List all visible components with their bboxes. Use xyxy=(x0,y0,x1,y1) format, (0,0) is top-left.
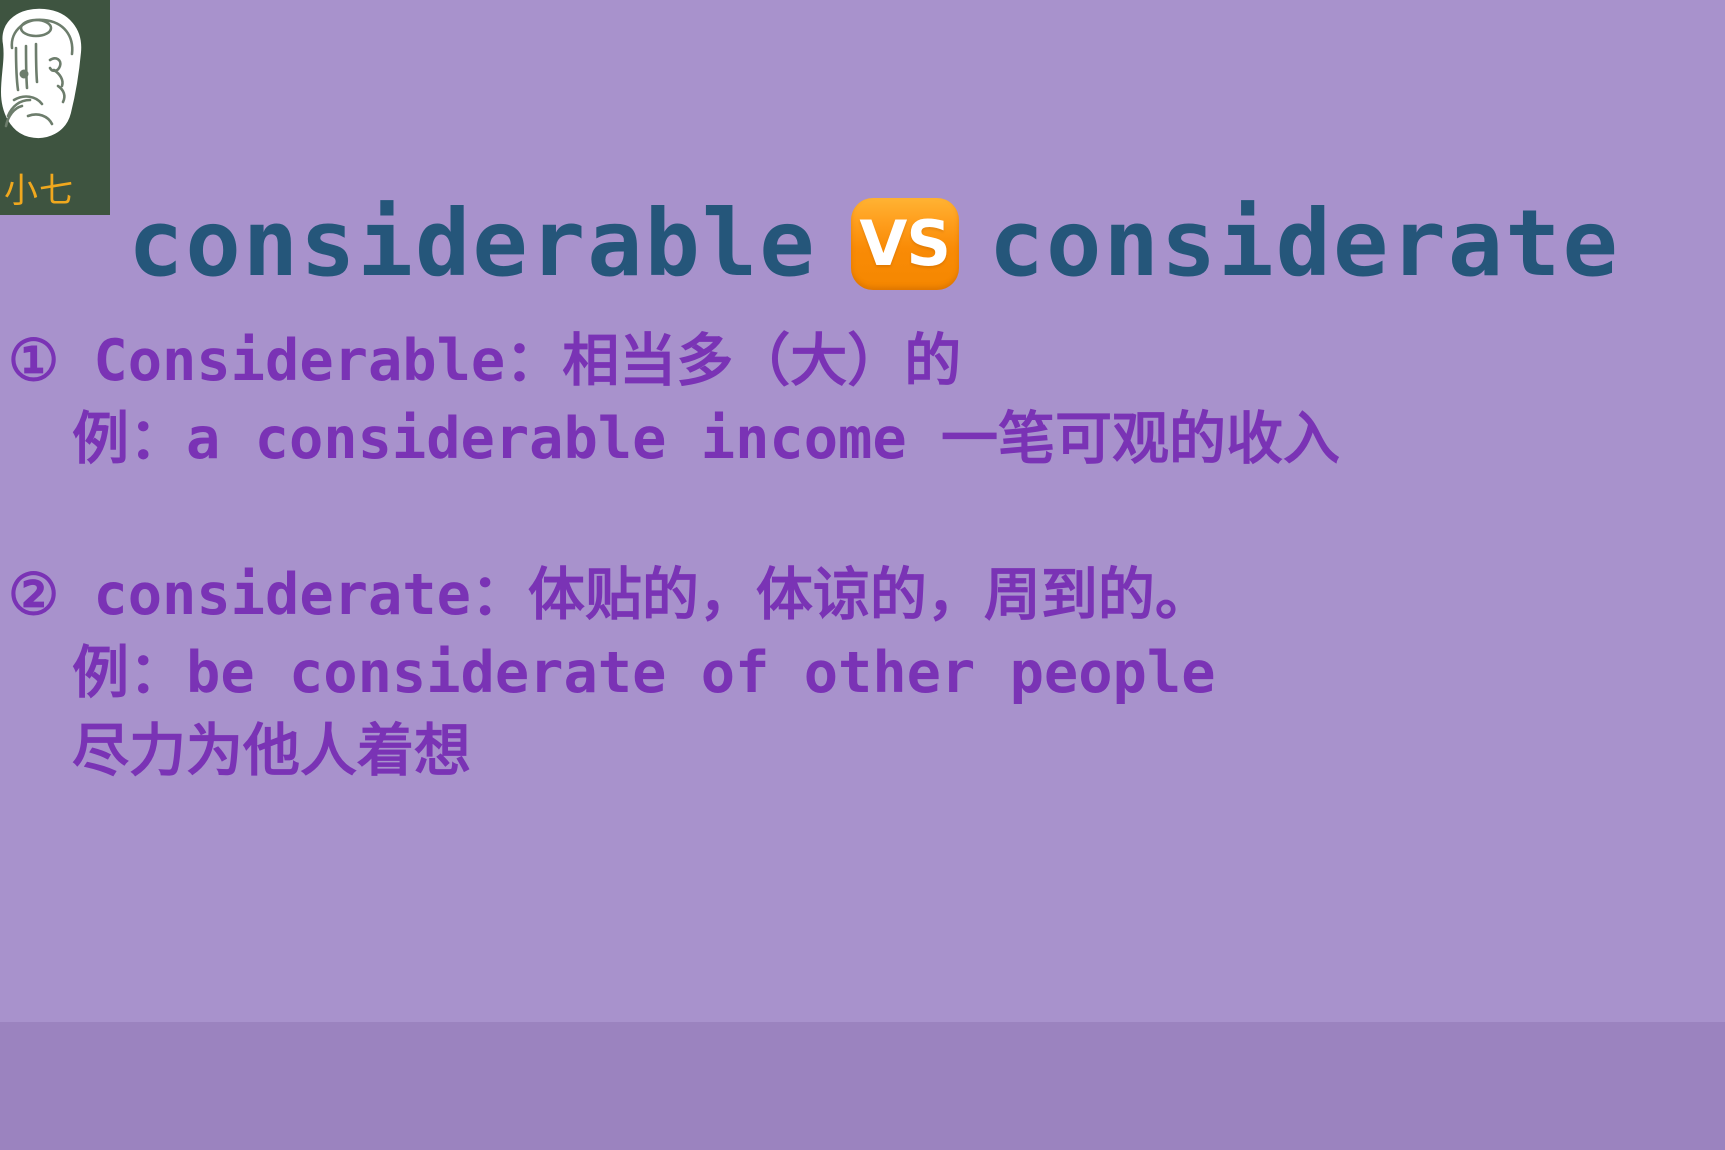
definition-1-headword: ① Considerable：相当多（大）的 xyxy=(0,322,1725,400)
bottom-band xyxy=(0,1022,1725,1150)
definition-2-translation: 尽力为他人着想 xyxy=(0,712,1725,790)
vs-badge-label: VS xyxy=(859,213,950,275)
definition-list: ① Considerable：相当多（大）的 例：a considerable … xyxy=(0,322,1725,790)
slide-canvas: 小七 considerable VS considerate ① Conside… xyxy=(0,0,1725,1150)
definition-2-headword: ② considerate：体贴的，体谅的，周到的。 xyxy=(0,556,1725,634)
paragraph-spacer xyxy=(0,478,1725,556)
definition-1-example: 例：a considerable income 一笔可观的收入 xyxy=(0,400,1725,478)
title-word-left: considerable xyxy=(128,188,817,300)
slide-title: considerable VS considerate xyxy=(110,186,1725,302)
vs-badge-icon: VS xyxy=(851,198,959,290)
logo-caption: 小七 xyxy=(4,171,74,211)
definition-2-example: 例：be considerate of other people xyxy=(0,634,1725,712)
title-word-right: considerate xyxy=(989,188,1620,300)
channel-logo: 小七 xyxy=(0,0,110,215)
girl-avatar-icon xyxy=(0,4,104,164)
